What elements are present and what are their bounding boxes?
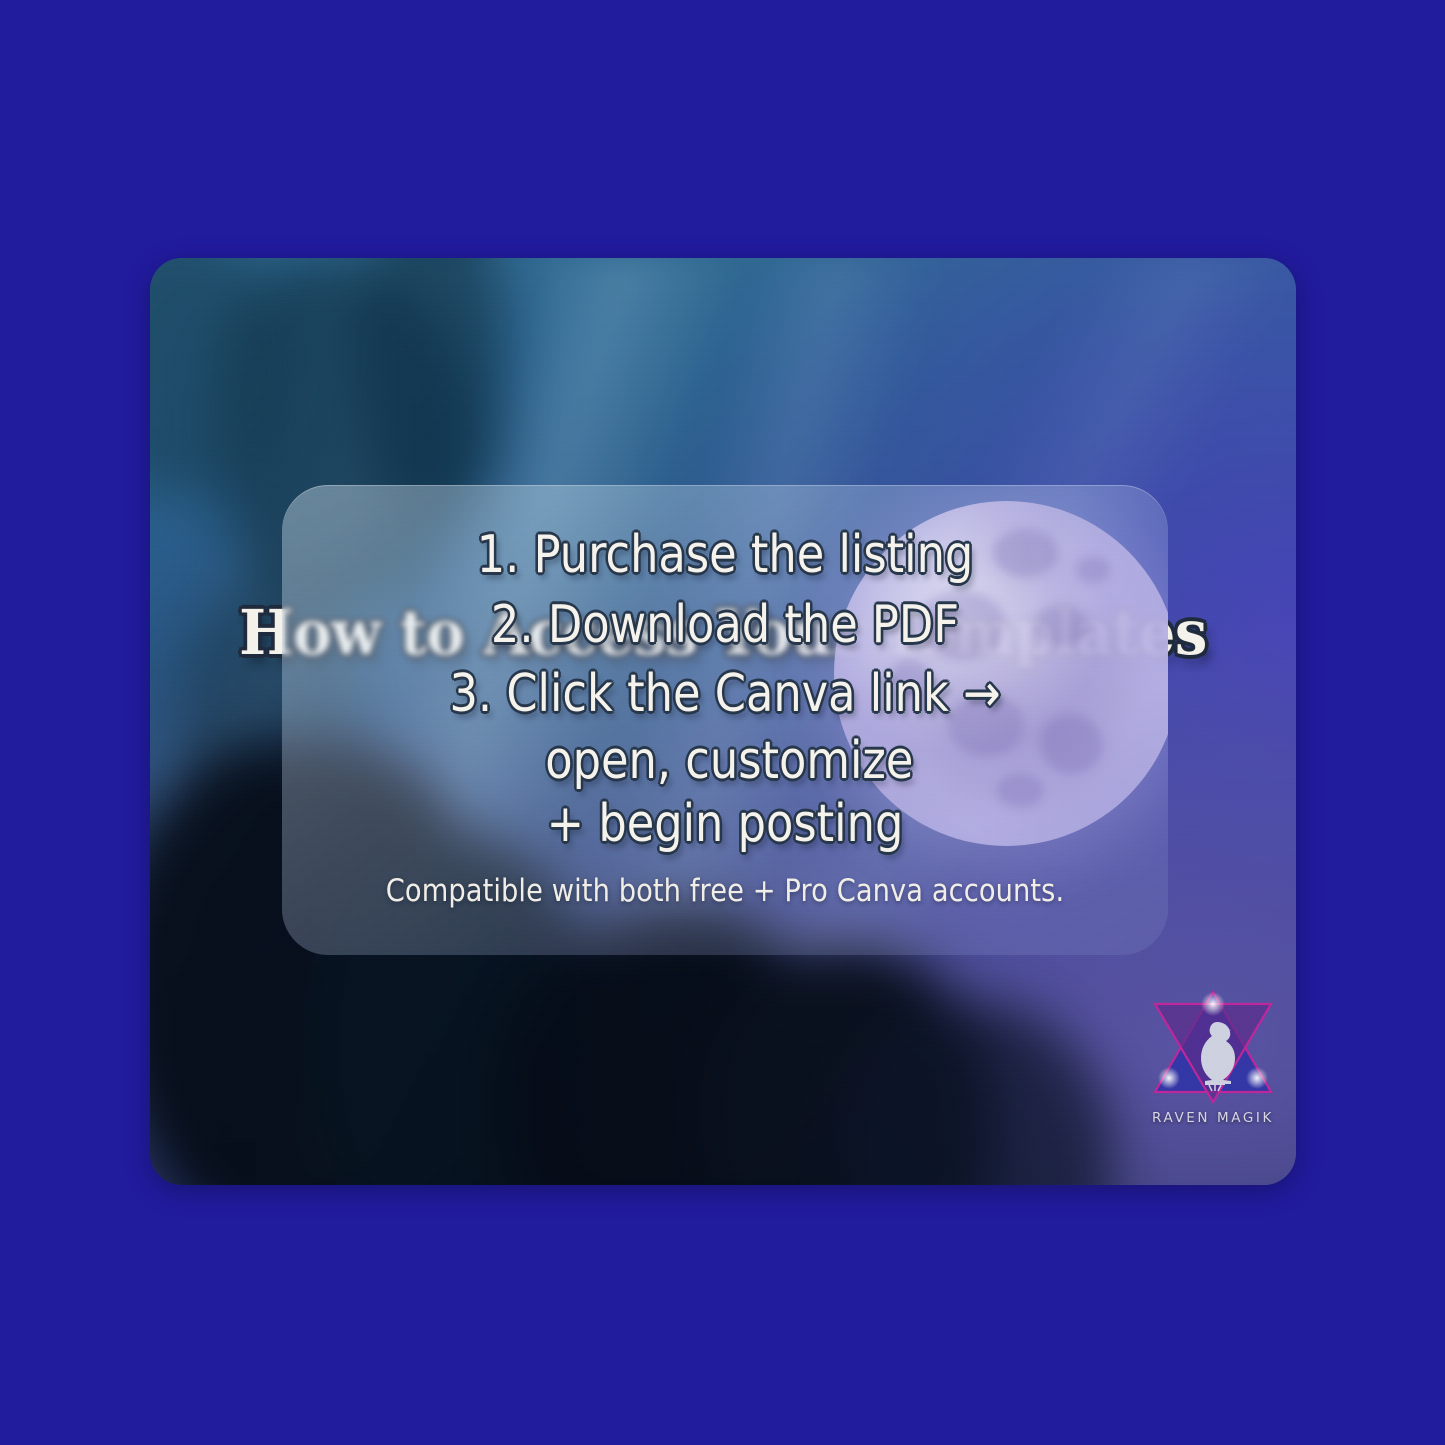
list-item: 2. Download the PDF: [344, 591, 1106, 661]
instructions-content: 1. Purchase the listing 2. Download the …: [282, 485, 1168, 955]
list-item: 1. Purchase the listing: [344, 521, 1106, 591]
brand-logo: RAVEN MAGIK: [1133, 986, 1293, 1136]
step3-line3: + begin posting: [344, 793, 1106, 856]
compatibility-note: Compatible with both free + Pro Canva ac…: [335, 873, 1115, 909]
poster-canvas: How to Access Your Templates 1. Purchase…: [0, 0, 1445, 1445]
list-item: 3. Click the Canva link → open, customiz…: [282, 660, 1168, 857]
step3-line1: 3. Click the Canva link →: [344, 660, 1106, 730]
brand-name: RAVEN MAGIK: [1133, 1110, 1293, 1126]
merkaba-star-icon: [1143, 986, 1283, 1108]
instructions-panel: 1. Purchase the listing 2. Download the …: [282, 485, 1168, 955]
step3-line2: open, customize: [344, 730, 1106, 793]
image-card: How to Access Your Templates 1. Purchase…: [150, 258, 1296, 1185]
steps-list: 1. Purchase the listing 2. Download the …: [282, 521, 1168, 857]
